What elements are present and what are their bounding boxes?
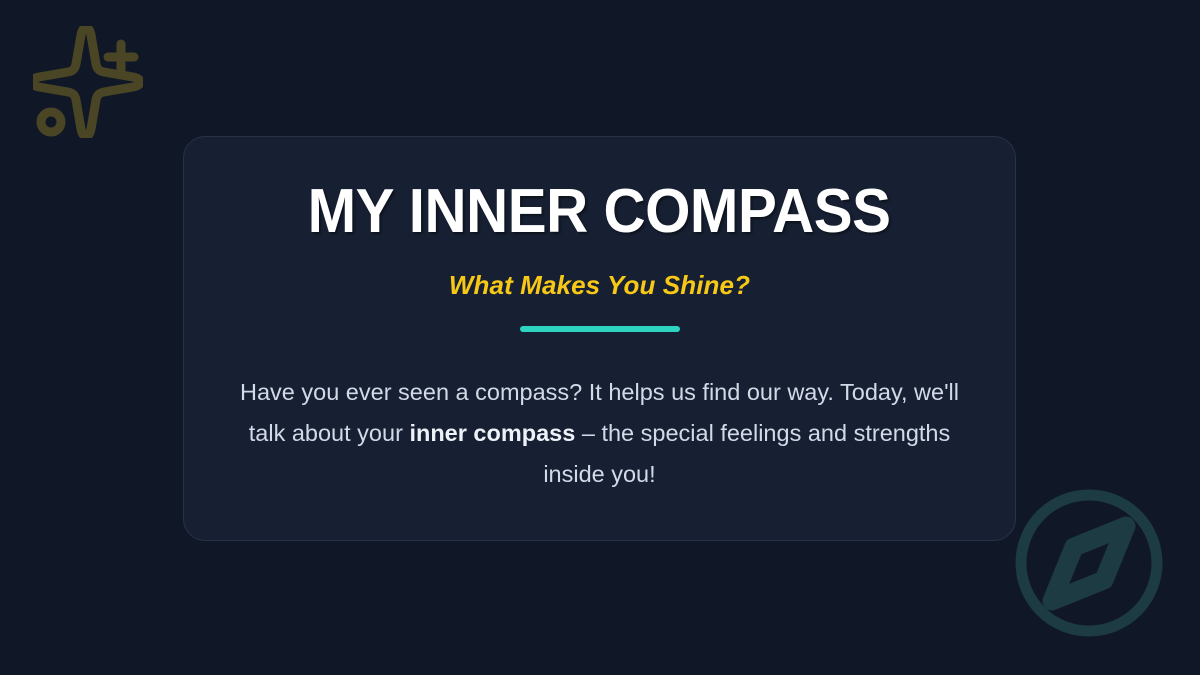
subtitle: What Makes You Shine?	[449, 270, 750, 301]
body-paragraph: Have you ever seen a compass? It helps u…	[240, 372, 960, 495]
body-text-after: – the special feelings and strengths ins…	[543, 420, 950, 487]
content-card: My Inner Compass What Makes You Shine? H…	[183, 136, 1016, 541]
sparkle-icon	[33, 26, 143, 138]
body-text-emphasis: inner compass	[409, 420, 575, 446]
slide-canvas: My Inner Compass What Makes You Shine? H…	[0, 0, 1200, 675]
page-title: My Inner Compass	[308, 179, 891, 244]
accent-divider	[520, 326, 680, 332]
compass-icon	[1008, 482, 1170, 644]
